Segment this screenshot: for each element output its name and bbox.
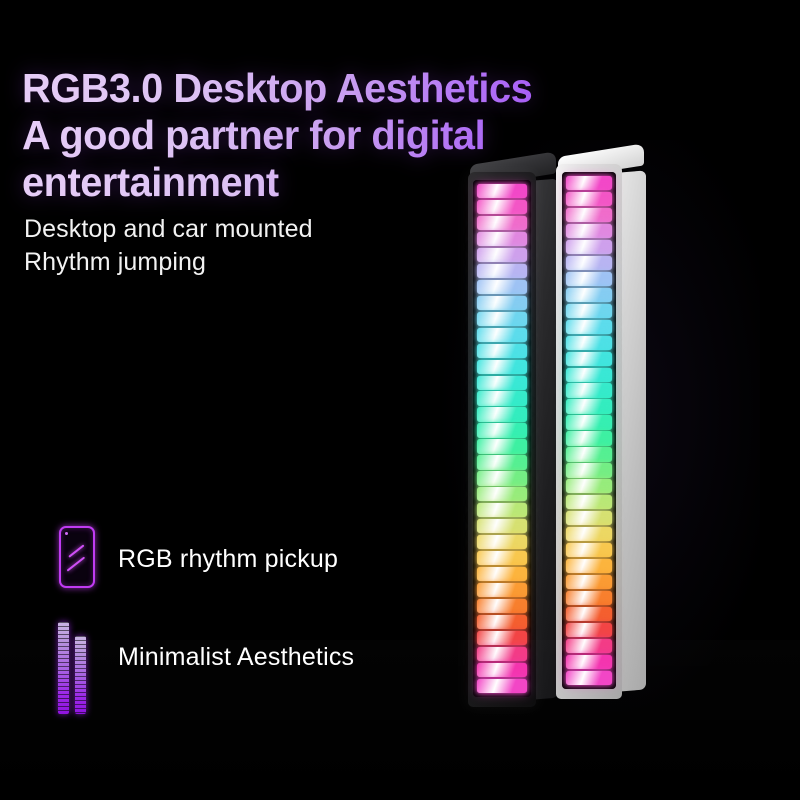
wave-line-2 bbox=[67, 556, 86, 571]
bar-shell bbox=[468, 172, 536, 707]
feature-label: RGB rhythm pickup bbox=[118, 545, 338, 574]
led-segment bbox=[477, 567, 527, 581]
feature-rgb-rhythm-pickup: RGB rhythm pickup bbox=[48, 520, 338, 598]
led-segment bbox=[477, 439, 527, 453]
led-segment bbox=[566, 320, 612, 334]
led-segment bbox=[477, 312, 527, 326]
subtitle: Desktop and car mounted Rhythm jumping bbox=[24, 213, 454, 279]
led-segment bbox=[566, 607, 612, 621]
phone-rhythm-icon bbox=[48, 520, 110, 598]
led-segment bbox=[566, 591, 612, 605]
led-segment bbox=[566, 224, 612, 238]
led-segment bbox=[477, 599, 527, 613]
led-segment bbox=[477, 264, 527, 278]
led-segment bbox=[477, 663, 527, 677]
led-segment bbox=[477, 296, 527, 310]
led-segment bbox=[566, 336, 612, 350]
led-segment bbox=[477, 200, 527, 214]
product-poster: RGB3.0 Desktop Aesthetics A good partner… bbox=[0, 0, 800, 800]
led-segment bbox=[566, 240, 612, 254]
led-segment bbox=[566, 463, 612, 477]
led-segment bbox=[566, 527, 612, 541]
led-segment bbox=[566, 368, 612, 382]
subtitle-line-2: Rhythm jumping bbox=[24, 246, 454, 279]
led-segment bbox=[566, 543, 612, 557]
led-segment bbox=[566, 431, 612, 445]
led-segment bbox=[566, 671, 612, 685]
led-segment bbox=[477, 216, 527, 230]
feature-label: Minimalist Aesthetics bbox=[118, 643, 354, 672]
led-segment bbox=[477, 535, 527, 549]
led-segment bbox=[566, 559, 612, 573]
led-segment bbox=[477, 583, 527, 597]
bar-shell bbox=[556, 164, 622, 699]
led-segment bbox=[477, 248, 527, 262]
feature-minimalist-aesthetics: Minimalist Aesthetics bbox=[48, 618, 354, 696]
equalizer-bar-1 bbox=[58, 622, 69, 714]
equalizer-bar-2 bbox=[75, 636, 86, 714]
led-segment bbox=[566, 192, 612, 206]
led-segment bbox=[477, 280, 527, 294]
led-segment bbox=[477, 519, 527, 533]
led-segment bbox=[566, 176, 612, 190]
led-segment bbox=[566, 272, 612, 286]
headline-line-1: RGB3.0 Desktop Aesthetics bbox=[22, 65, 662, 112]
led-segment bbox=[477, 471, 527, 485]
subtitle-line-1: Desktop and car mounted bbox=[24, 213, 454, 246]
led-segment bbox=[566, 655, 612, 669]
led-segment bbox=[566, 479, 612, 493]
led-strip bbox=[562, 172, 616, 689]
led-segment bbox=[566, 415, 612, 429]
led-segment bbox=[477, 679, 527, 693]
led-strip bbox=[473, 180, 531, 697]
led-segment bbox=[566, 495, 612, 509]
led-segment bbox=[477, 647, 527, 661]
led-segment bbox=[477, 503, 527, 517]
equalizer-bars-icon bbox=[48, 618, 110, 696]
black-light-bar bbox=[468, 172, 564, 707]
led-segment bbox=[477, 184, 527, 198]
led-segment bbox=[477, 376, 527, 390]
led-segment bbox=[566, 623, 612, 637]
wave-line-1 bbox=[68, 544, 84, 558]
led-segment bbox=[566, 399, 612, 413]
led-segment bbox=[566, 575, 612, 589]
led-segment bbox=[477, 551, 527, 565]
phone-camera-dot bbox=[65, 532, 68, 535]
led-segment bbox=[477, 615, 527, 629]
led-segment bbox=[566, 208, 612, 222]
led-segment bbox=[477, 360, 527, 374]
led-segment bbox=[477, 487, 527, 501]
led-segment bbox=[477, 391, 527, 405]
led-segment bbox=[477, 407, 527, 421]
led-segment bbox=[566, 256, 612, 270]
led-segment bbox=[566, 288, 612, 302]
product-image bbox=[440, 150, 740, 800]
led-segment bbox=[566, 511, 612, 525]
led-well bbox=[562, 172, 616, 689]
led-segment bbox=[566, 447, 612, 461]
led-segment bbox=[566, 352, 612, 366]
led-segment bbox=[477, 328, 527, 342]
led-segment bbox=[477, 423, 527, 437]
silver-light-bar bbox=[556, 164, 652, 699]
led-segment bbox=[477, 344, 527, 358]
led-segment bbox=[566, 383, 612, 397]
led-segment bbox=[477, 631, 527, 645]
led-well bbox=[473, 180, 531, 697]
led-segment bbox=[477, 455, 527, 469]
led-segment bbox=[566, 304, 612, 318]
led-segment bbox=[566, 639, 612, 653]
led-segment bbox=[477, 232, 527, 246]
